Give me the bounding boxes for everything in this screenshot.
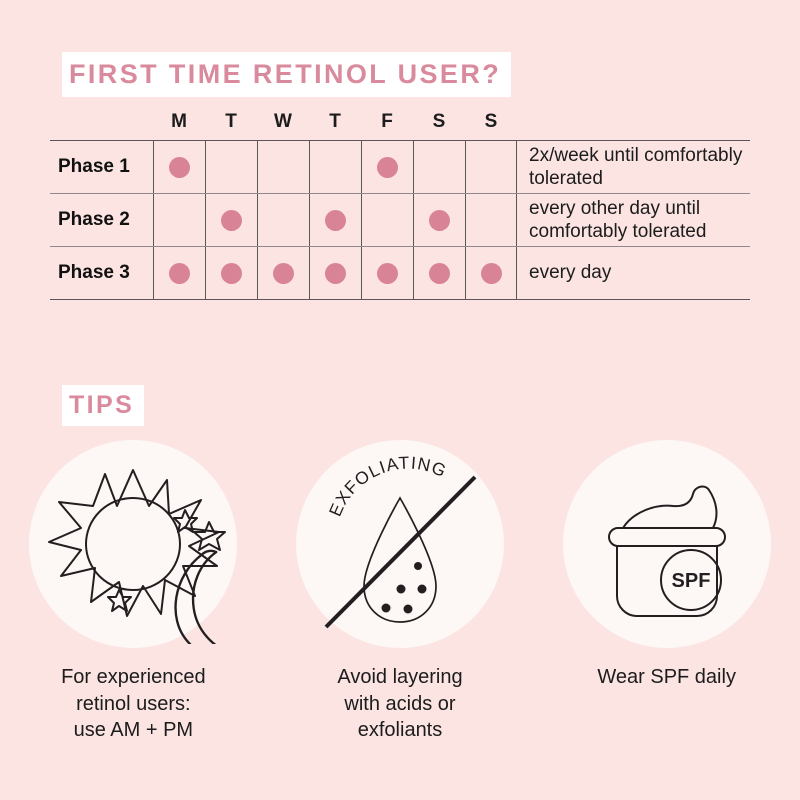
dose-dot-empty	[169, 210, 190, 231]
day-header-thursday: T	[309, 112, 361, 131]
tip-icon-circle: SPF	[563, 440, 771, 648]
phase-description: every other day until comfortably tolera…	[517, 194, 750, 246]
dose-dot	[169, 157, 190, 178]
retinol-schedule-table: M T W T F S S Phase 1 2x/week until comf…	[50, 112, 750, 300]
table-row: Phase 3 every day	[50, 247, 750, 299]
phase-day-cells	[153, 247, 517, 299]
day-header-friday: F	[361, 112, 413, 131]
page-title-text: FIRST TIME RETINOL USER?	[62, 52, 511, 97]
day-header-tuesday: T	[205, 112, 257, 131]
schedule-cell	[465, 141, 517, 193]
phase-label: Phase 2	[50, 194, 153, 246]
dose-dot	[325, 263, 346, 284]
tip-caption: Wear SPF daily	[542, 664, 792, 691]
table-row: Phase 2 every other day until comfortabl…	[50, 194, 750, 247]
dose-dot-empty	[273, 210, 294, 231]
day-header-saturday: S	[413, 112, 465, 131]
day-header-row: M T W T F S S	[50, 112, 750, 140]
schedule-cell	[413, 141, 465, 193]
dose-dot	[221, 210, 242, 231]
dose-dot	[481, 263, 502, 284]
dose-dot-empty	[273, 157, 294, 178]
schedule-cell	[257, 247, 309, 299]
schedule-cell	[205, 247, 257, 299]
schedule-cell	[205, 194, 257, 246]
phase-label: Phase 3	[50, 247, 153, 299]
table-row: Phase 1 2x/week until comfortably tolera…	[50, 141, 750, 194]
day-header-wednesday: W	[257, 112, 309, 131]
schedule-cell	[361, 194, 413, 246]
schedule-grid: Phase 1 2x/week until comfortably tolera…	[50, 140, 750, 300]
dose-dot-empty	[221, 157, 242, 178]
schedule-cell	[309, 194, 361, 246]
tip-icon-circle	[29, 440, 237, 648]
dose-dot	[377, 263, 398, 284]
dose-dot-empty	[481, 157, 502, 178]
phase-day-cells	[153, 194, 517, 246]
sun-moon-stars-icon	[33, 444, 233, 644]
phase-description: every day	[517, 247, 750, 299]
phase-description: 2x/week until comfortably tolerated	[517, 141, 750, 193]
dose-dot	[273, 263, 294, 284]
spf-label: SPF	[671, 570, 710, 592]
schedule-cell	[205, 141, 257, 193]
schedule-cell	[361, 141, 413, 193]
no-exfoliating-droplet-icon: EXFOLIATING	[300, 444, 500, 644]
day-header-sunday: S	[465, 112, 517, 131]
exfoliating-label: EXFOLIATING	[325, 453, 450, 520]
phase-day-cells	[153, 141, 517, 193]
tip-caption: For experienced retinol users: use AM + …	[8, 664, 258, 744]
schedule-cell	[465, 194, 517, 246]
tips-section-title: TIPS	[62, 385, 144, 426]
exfoliating-beads	[382, 562, 427, 614]
dose-dot	[429, 263, 450, 284]
dose-dot-empty	[325, 157, 346, 178]
schedule-cell	[153, 247, 205, 299]
tip-item: SPF Wear SPF daily	[533, 440, 800, 744]
schedule-cell	[153, 194, 205, 246]
page-title: FIRST TIME RETINOL USER?	[62, 52, 511, 97]
dose-dot	[325, 210, 346, 231]
tips-row: For experienced retinol users: use AM + …	[0, 440, 800, 744]
schedule-cell	[361, 247, 413, 299]
phase-label: Phase 1	[50, 141, 153, 193]
dose-dot-empty	[429, 157, 450, 178]
dose-dot	[377, 157, 398, 178]
schedule-cell	[413, 247, 465, 299]
dose-dot-empty	[377, 210, 398, 231]
tips-section-title-text: TIPS	[62, 385, 144, 426]
dose-dot	[221, 263, 242, 284]
day-header-monday: M	[153, 112, 205, 131]
dose-dot	[429, 210, 450, 231]
tip-item: For experienced retinol users: use AM + …	[0, 440, 267, 744]
spf-cream-jar-icon: SPF	[567, 444, 767, 644]
tip-icon-circle: EXFOLIATING	[296, 440, 504, 648]
dose-dot	[169, 263, 190, 284]
tip-item: EXFOLIATING Avoid layering with acids or…	[267, 440, 534, 744]
schedule-cell	[257, 141, 309, 193]
dose-dot-empty	[481, 210, 502, 231]
schedule-cell	[153, 141, 205, 193]
tip-caption: Avoid layering with acids or exfoliants	[275, 664, 525, 744]
schedule-cell	[413, 194, 465, 246]
schedule-cell	[257, 194, 309, 246]
schedule-cell	[465, 247, 517, 299]
schedule-cell	[309, 247, 361, 299]
schedule-cell	[309, 141, 361, 193]
